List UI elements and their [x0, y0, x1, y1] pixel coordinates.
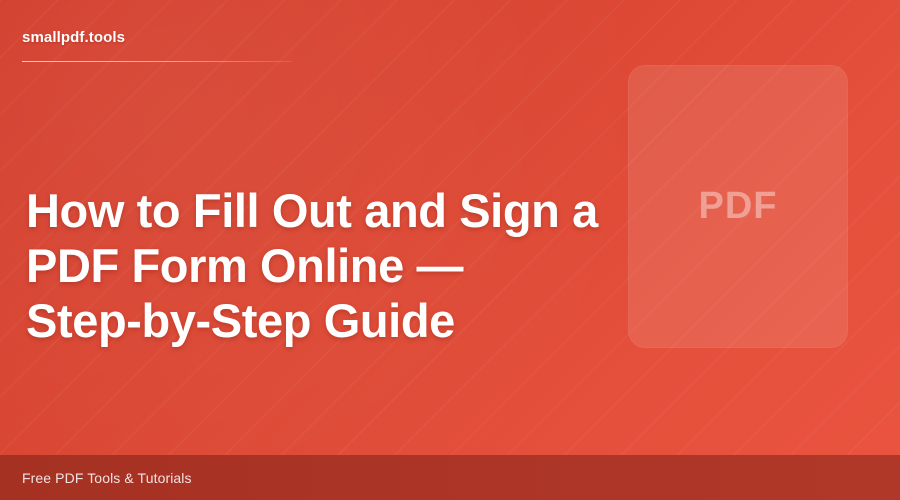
- page-title: How to Fill Out and Sign a PDF Form Onli…: [26, 183, 586, 348]
- banner-footer: Free PDF Tools & Tutorials: [0, 455, 900, 500]
- site-logo-text: smallpdf.tools: [22, 28, 294, 48]
- pdf-document-card: PDF: [628, 65, 848, 348]
- logo-divider-rule: [22, 61, 292, 62]
- hero-banner: smallpdf.tools How to Fill Out and Sign …: [0, 0, 900, 500]
- footer-tagline: Free PDF Tools & Tutorials: [22, 470, 192, 486]
- page-title-line-3: Step-by-Step Guide: [26, 293, 586, 348]
- pdf-card-label: PDF: [699, 185, 778, 228]
- page-title-line-2: PDF Form Online —: [26, 238, 586, 293]
- page-title-line-1: How to Fill Out and Sign a: [26, 183, 586, 238]
- site-logo[interactable]: smallpdf.tools: [22, 28, 294, 62]
